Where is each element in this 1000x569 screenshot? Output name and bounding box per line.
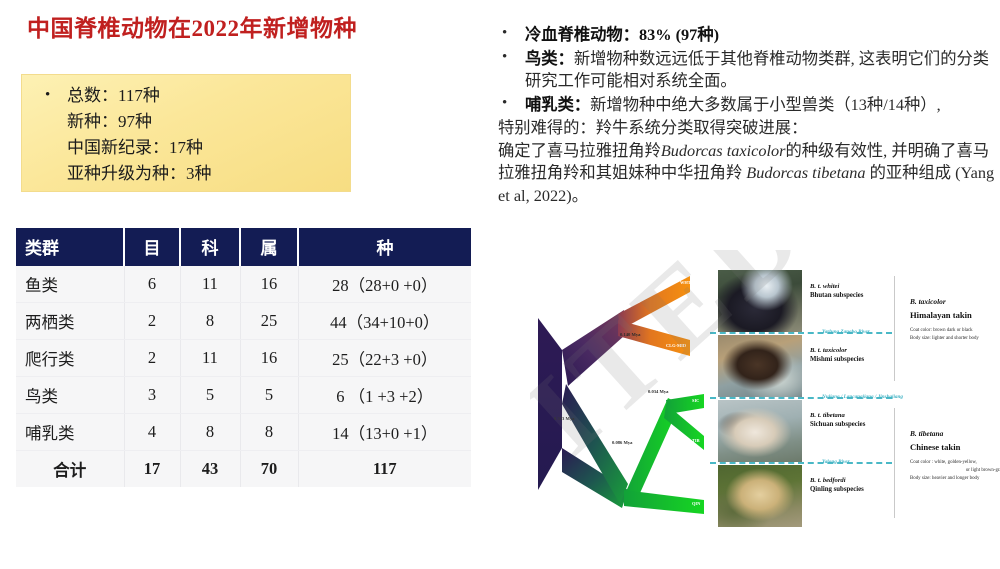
cell-family: 11	[180, 340, 240, 377]
river-divider-nujiang: Nujiang / Lancangjiang / Jinshajiang	[710, 397, 892, 408]
table-header-order: 目	[124, 228, 180, 266]
species-body-size: Body size: lighter and shorter body	[910, 336, 979, 341]
summary-callout-box: 总数：117种 新种：97种 中国新纪录：17种 亚种升级为种：3种	[21, 74, 351, 192]
cell-genus: 8	[240, 414, 298, 451]
species-label-taxicolor: B. taxicolor Himalayan takin Coat color:…	[910, 296, 1000, 343]
right-column: 冷血脊椎动物：83% (97种) 鸟类：新增物种数远远低于其他脊椎动物类群, 这…	[484, 0, 1000, 569]
bullet-birds: 鸟类：新增物种数远远低于其他脊椎动物类群, 这表明它们的分类研究工作可能相对系统…	[492, 48, 1000, 93]
subspecies-common-name: Qinling subspecies	[810, 485, 960, 495]
subspecies-sci-name: B. t. whitei	[810, 282, 960, 291]
note-line-1: 特别难得的：羚牛系统分类取得突破进展：	[498, 117, 1000, 140]
chinese-takin-tibetana-photo	[718, 400, 802, 462]
species-divider-lower	[894, 408, 895, 518]
table-total-row: 合计 17 43 70 117	[16, 451, 471, 488]
species-table-wrapper: 类群 目 科 属 种 鱼类 6 11 16 28（28+0 +0）	[16, 228, 471, 487]
table-row: 爬行类 2 11 16 25（22+3 +0）	[16, 340, 471, 377]
species-label-tibetana: B. tibetana Chinese takin Coat color : w…	[910, 428, 1000, 483]
species-common-name: Himalayan takin	[910, 308, 1000, 322]
tip-label-qin: QIN	[692, 501, 700, 506]
note-line-2: 确定了喜马拉雅扭角羚Budorcas taxicolor的种级有效性, 并明确了…	[498, 140, 1000, 208]
species-body-size: Body size: heavier and longer body	[910, 476, 979, 481]
bullet-rest: 83% (97种)	[639, 25, 719, 44]
cell-genus: 16	[240, 266, 298, 303]
species-sci-name: B. tibetana	[910, 428, 1000, 440]
table-header-group: 类群	[16, 228, 124, 266]
bullet-rest: 新增物种中绝大多数属于小型兽类（13种/14种）,	[590, 95, 941, 114]
cell-total-family: 43	[180, 451, 240, 488]
tip-label-wht: WHT	[680, 280, 691, 285]
node-label-0140: 0.140 Mya	[620, 332, 640, 337]
cell-species: 14（13+0 +1）	[298, 414, 471, 451]
subspecies-sci-name: B. t. tibetana	[810, 411, 960, 420]
cell-group: 鱼类	[16, 266, 124, 303]
cell-total-label: 合计	[16, 451, 124, 488]
cell-genus: 5	[240, 377, 298, 414]
cell-order: 2	[124, 340, 180, 377]
tip-label-sic: SIC	[692, 398, 699, 403]
cell-group: 两栖类	[16, 303, 124, 340]
chinese-takin-bedfordi-photo	[718, 465, 802, 527]
bullet-mammals: 哺乳类：新增物种中绝大多数属于小型兽类（13种/14种）,	[492, 94, 1000, 117]
subspecies-label-taxicolor: B. t. taxicolor Mishmi subspecies	[810, 346, 960, 365]
takin-note: 特别难得的：羚牛系统分类取得突破进展： 确定了喜马拉雅扭角羚Budorcas t…	[492, 117, 1000, 207]
tree-tip-taxicolor	[618, 320, 690, 356]
note-sci-tibetana: Budorcas tibetana	[746, 163, 865, 182]
left-column: 中国脊椎动物在2022年新增物种 总数：117种 新种：97种 中国新纪录：17…	[0, 0, 480, 569]
summary-item-subspecies-upgrade: 亚种升级为种：3种	[21, 161, 351, 187]
cell-family: 8	[180, 414, 240, 451]
cell-group: 鸟类	[16, 377, 124, 414]
bullet-lead: 哺乳类：	[525, 95, 590, 114]
river-divider-yalong: Yalong River	[710, 462, 892, 473]
subspecies-common-name: Mishmi subspecies	[810, 355, 960, 365]
cell-order: 3	[124, 377, 180, 414]
cell-species: 25（22+3 +0）	[298, 340, 471, 377]
species-description: Coat color : white, golden-yellow, or li…	[910, 459, 1000, 483]
bullet-lead: 冷血脊椎动物：	[525, 25, 639, 44]
summary-list: 总数：117种 新种：97种 中国新纪录：17种 亚种升级为种：3种	[21, 74, 351, 187]
summary-item-total: 总数：117种	[21, 83, 351, 109]
cell-genus: 16	[240, 340, 298, 377]
takin-phylogeny-figure: 0.140 Mya 0.333 Mya 0.034 Mya 0.086 Mya …	[532, 258, 1000, 563]
table-header-genus: 属	[240, 228, 298, 266]
table-row: 两栖类 2 8 25 44（34+10+0）	[16, 303, 471, 340]
page-title: 中国脊椎动物在2022年新增物种	[27, 9, 357, 43]
river-divider-yarlung: Yarlung Zangbo River	[710, 332, 892, 343]
table-header-family: 科	[180, 228, 240, 266]
cell-family: 8	[180, 303, 240, 340]
species-coat-color: Coat color : white, golden-yellow,	[910, 460, 977, 465]
table-row: 哺乳类 4 8 8 14（13+0 +1）	[16, 414, 471, 451]
cell-total-genus: 70	[240, 451, 298, 488]
cell-total-species: 117	[298, 451, 471, 488]
findings-bullets: 冷血脊椎动物：83% (97种) 鸟类：新增物种数远远低于其他脊椎动物类群, 这…	[492, 24, 1000, 207]
note-sci-taxicolor: Budorcas taxicolor	[661, 141, 786, 160]
species-coat-color: Coat color: brown dark or black	[910, 328, 973, 333]
cell-order: 2	[124, 303, 180, 340]
cell-species: 44（34+10+0）	[298, 303, 471, 340]
himalayan-takin-whitei-photo	[718, 270, 802, 332]
summary-item-new-record: 中国新纪录：17种	[21, 135, 351, 161]
river-divider-label: Nujiang / Lancangjiang / Jinshajiang	[822, 394, 903, 400]
cell-total-order: 17	[124, 451, 180, 488]
bullet-rest: 新增物种数远远低于其他脊椎动物类群, 这表明它们的分类研究工作可能相对系统全面。	[525, 49, 989, 91]
species-table: 类群 目 科 属 种 鱼类 6 11 16 28（28+0 +0）	[16, 228, 471, 487]
table-row: 鱼类 6 11 16 28（28+0 +0）	[16, 266, 471, 303]
summary-item-new-species: 新种：97种	[21, 109, 351, 135]
species-description: Coat color: brown dark or black Body siz…	[910, 327, 1000, 343]
tip-label-tib: TIB	[692, 438, 700, 443]
species-coat-color-cont: or light brown-gray	[910, 467, 1000, 475]
cell-species: 28（28+0 +0）	[298, 266, 471, 303]
cell-genus: 25	[240, 303, 298, 340]
river-divider-label: Yalong River	[822, 459, 850, 465]
note-seg-a: 确定了喜马拉雅扭角羚	[498, 141, 661, 160]
node-label-0086: 0.086 Mya	[612, 440, 632, 445]
cell-group: 爬行类	[16, 340, 124, 377]
cell-family: 11	[180, 266, 240, 303]
species-sci-name: B. taxicolor	[910, 296, 1000, 308]
tip-label-clg-mid: CLG-MID	[666, 343, 686, 348]
table-row: 鸟类 3 5 5 6 （1 +3 +2）	[16, 377, 471, 414]
cell-group: 哺乳类	[16, 414, 124, 451]
subspecies-sci-name: B. t. taxicolor	[810, 346, 960, 355]
node-label-0034: 0.034 Mya	[648, 389, 668, 394]
himalayan-takin-taxicolor-photo	[718, 335, 802, 397]
bullet-lead: 鸟类：	[525, 49, 574, 68]
bullet-cold-blooded: 冷血脊椎动物：83% (97种)	[492, 24, 1000, 47]
river-divider-label: Yarlung Zangbo River	[822, 329, 870, 335]
tree-branch-upper	[562, 310, 624, 386]
cell-species: 6 （1 +3 +2）	[298, 377, 471, 414]
cell-order: 6	[124, 266, 180, 303]
cell-family: 5	[180, 377, 240, 414]
node-label-0333: 0.333 Mya	[554, 416, 574, 421]
slide-root: 中国脊椎动物在2022年新增物种 总数：117种 新种：97种 中国新纪录：17…	[0, 0, 1000, 569]
cell-order: 4	[124, 414, 180, 451]
table-header-row: 类群 目 科 属 种	[16, 228, 471, 266]
species-common-name: Chinese takin	[910, 440, 1000, 454]
tree-root-stem	[538, 318, 562, 490]
species-divider-upper	[894, 276, 895, 381]
phylogenetic-tree-diagram	[532, 258, 732, 563]
table-header-species: 种	[298, 228, 471, 266]
